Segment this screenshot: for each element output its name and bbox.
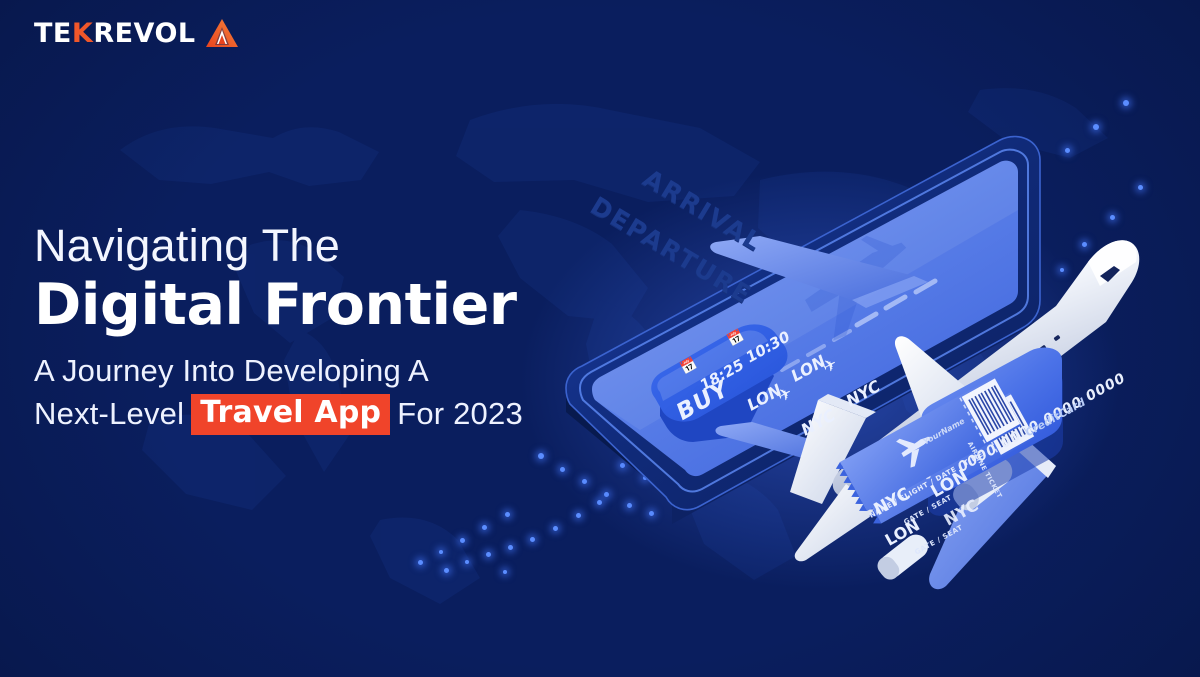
headline-line-2: Digital Frontier [34, 274, 594, 337]
headline-line-1: Navigating The [34, 222, 594, 270]
subheadline-line-1: A Journey Into Developing A [34, 350, 594, 393]
headline-block: Navigating The Digital Frontier A Journe… [34, 222, 594, 436]
travel-app-highlight: Travel App [191, 394, 390, 435]
promo-banner: TEKREVOL [0, 0, 1200, 677]
subheadline-suffix: For 2023 [397, 393, 523, 436]
subheadline-prefix: Next-Level [34, 393, 184, 436]
subheadline-line-2: Next-Level Travel App For 2023 [34, 393, 594, 436]
